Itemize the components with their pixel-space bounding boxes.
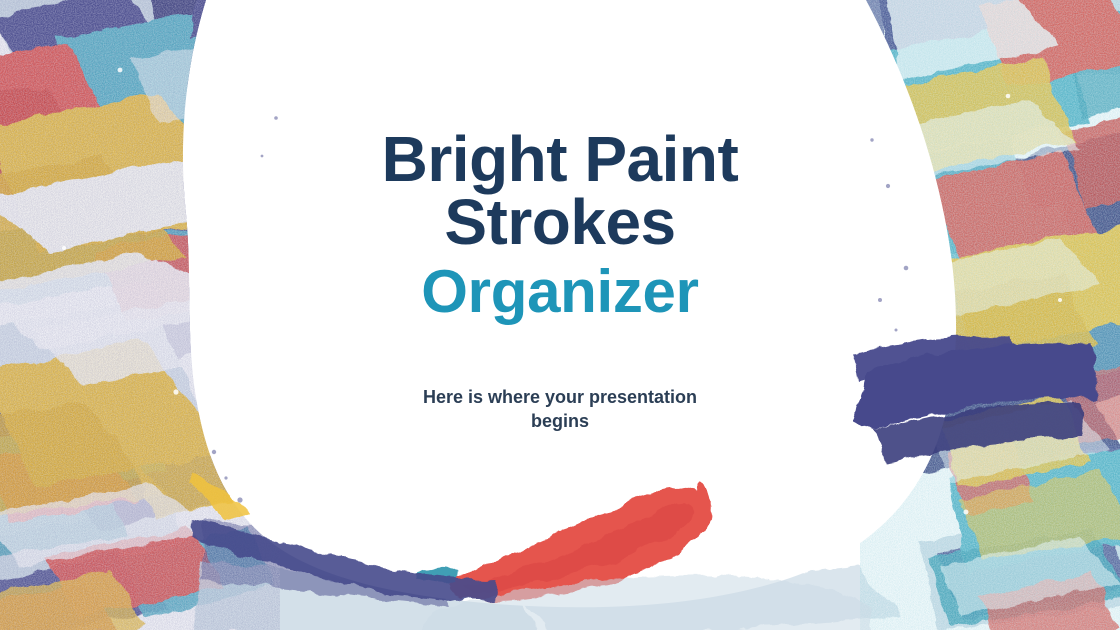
title-accent-line: Organizer (240, 261, 880, 322)
slide-subtitle: Here is where your presentation begins (410, 385, 710, 433)
title-block: Bright Paint Strokes Organizer (240, 128, 880, 323)
title-line-1: Bright Paint (240, 128, 880, 191)
title-line-2: Strokes (240, 191, 880, 254)
presentation-slide: Bright Paint Strokes Organizer Here is w… (0, 0, 1120, 630)
